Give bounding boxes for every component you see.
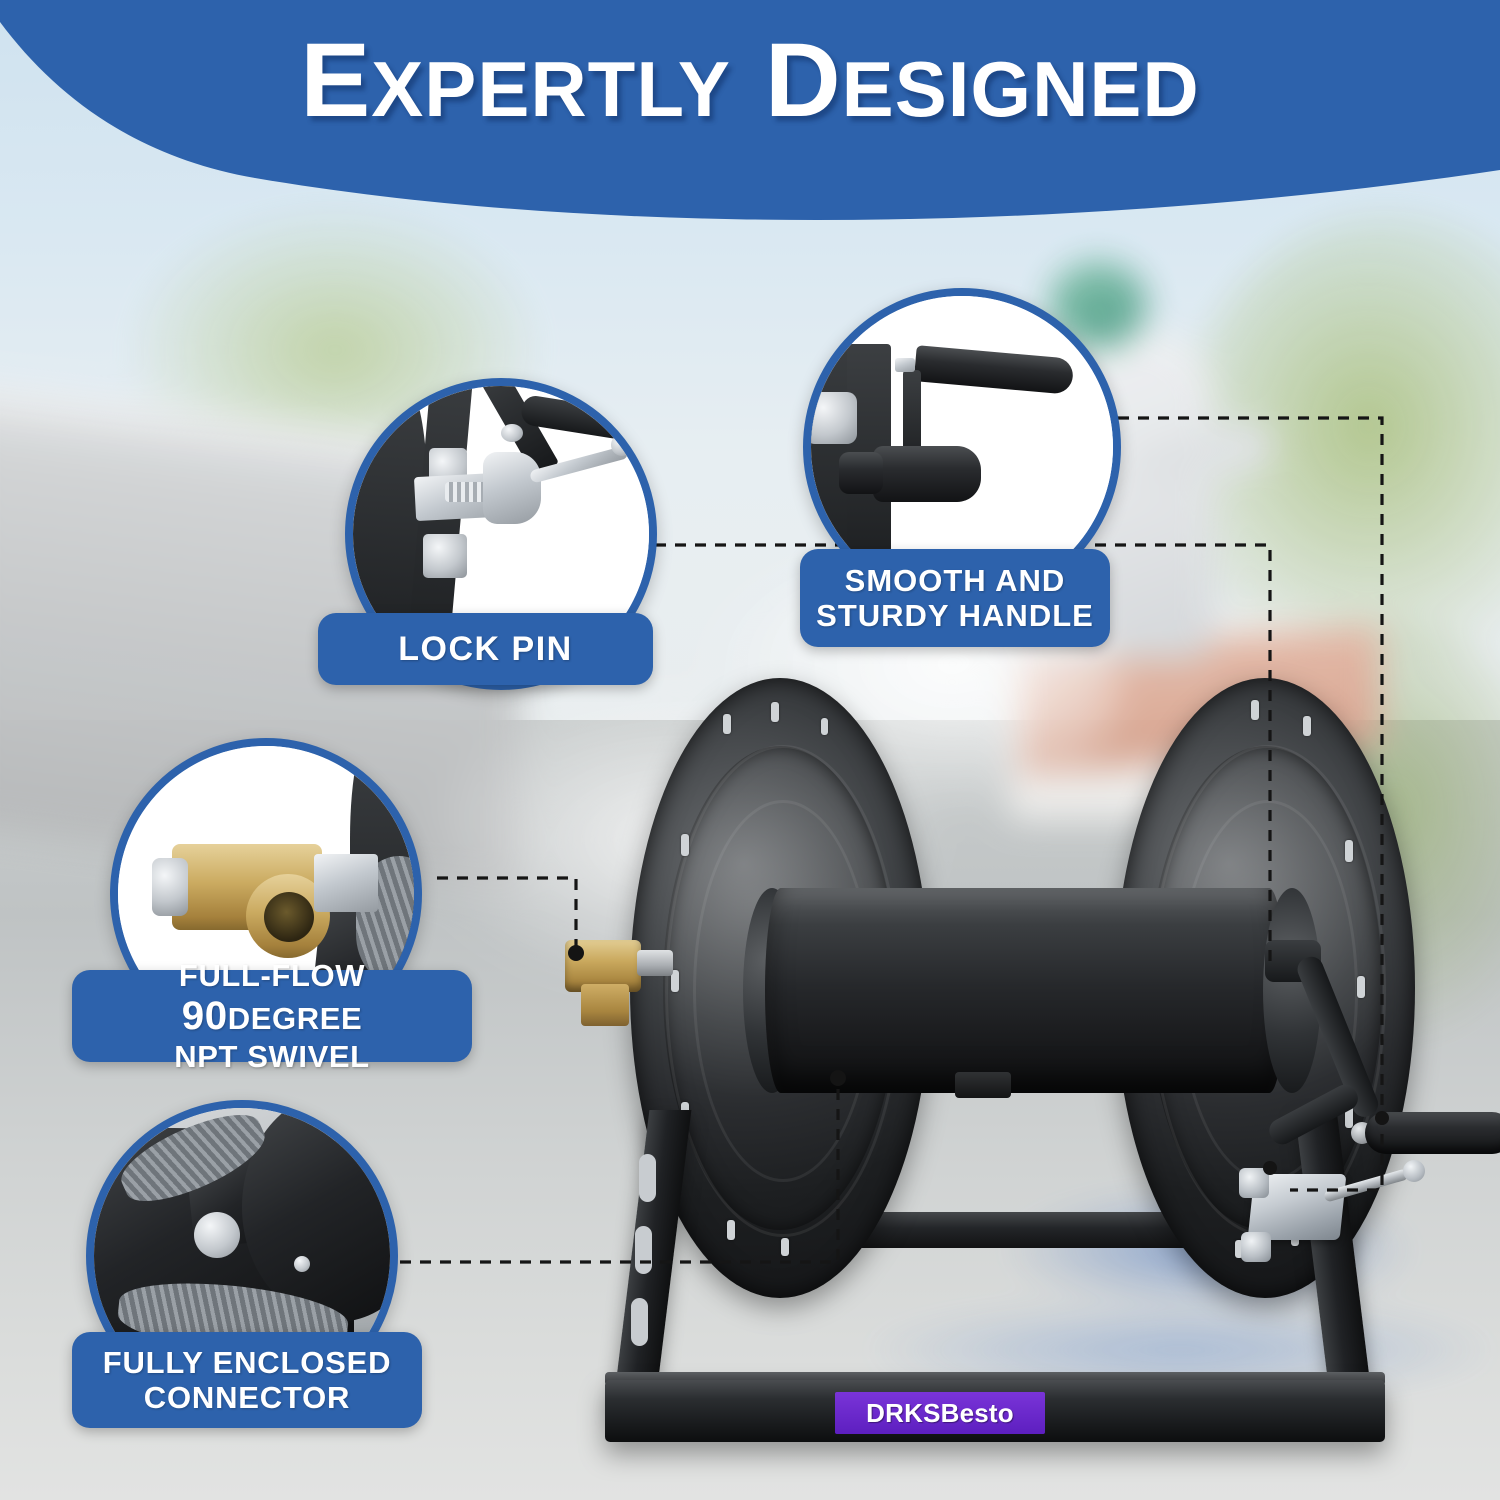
hex-bolt xyxy=(805,392,857,444)
reel-disc-slot xyxy=(723,714,731,734)
swivel-bearing-cap xyxy=(152,858,188,916)
lock-knob xyxy=(611,434,633,456)
reel-disc-slot xyxy=(821,718,828,735)
reel-disc-slot xyxy=(1345,840,1353,862)
reel-disc-slot xyxy=(1251,700,1259,720)
crank-hub-barrel xyxy=(873,446,981,502)
reel-disc-slot xyxy=(1303,716,1311,736)
reel-disc-slot xyxy=(781,1238,789,1256)
swivel-bore xyxy=(264,892,314,942)
product-hose-reel: DRKSBesto xyxy=(575,640,1445,1440)
brass-swivel-outlet xyxy=(581,984,629,1026)
callout-label-line1-post: DEGREE xyxy=(228,1001,363,1036)
frame-slot xyxy=(635,1226,652,1274)
handle-pin xyxy=(895,358,915,372)
reel-disc-slot xyxy=(727,1220,735,1240)
reel-drum xyxy=(765,888,1285,1093)
connector-threaded-port xyxy=(194,1212,240,1258)
lock-pin-bolt xyxy=(1239,1168,1269,1198)
callout-label-degrees-value: 90 xyxy=(182,993,228,1038)
callout-label-line1-pre: FULL-FLOW xyxy=(179,958,365,993)
callout-label-text: LOCK PIN xyxy=(398,630,572,669)
title-cap-2: D xyxy=(765,22,842,139)
callout-label-line1: SMOOTH AND xyxy=(845,563,1066,598)
callout-label-connector: FULLY ENCLOSED CONNECTOR xyxy=(72,1332,422,1428)
callout-label-text: SMOOTH AND STURDY HANDLE xyxy=(816,563,1094,634)
reel-disc-slot xyxy=(771,702,779,722)
page-title: EXPERTLYDESIGNED xyxy=(0,28,1500,142)
callout-label-line1: FULLY ENCLOSED xyxy=(103,1345,392,1380)
swivel-hex-nut xyxy=(314,854,378,912)
callout-label-handle: SMOOTH AND STURDY HANDLE xyxy=(800,549,1110,647)
reel-disc-slot xyxy=(1357,976,1365,998)
hex-bolt xyxy=(423,534,467,578)
lock-pin-bolt xyxy=(1241,1232,1271,1262)
connector-screw xyxy=(294,1256,310,1272)
frame-slot xyxy=(639,1154,656,1202)
callout-label-line2: NPT SWIVEL xyxy=(174,1039,369,1074)
title-rest-2: ESIGNED xyxy=(842,45,1200,133)
callout-label-text: FULLY ENCLOSED CONNECTOR xyxy=(103,1345,392,1416)
brand-label: DRKSBesto xyxy=(835,1392,1045,1434)
header-banner: EXPERTLYDESIGNED xyxy=(0,0,1500,230)
brand-label-text: DRKSBesto xyxy=(866,1398,1014,1429)
callout-label-text: FULL-FLOW 90DEGREE NPT SWIVEL xyxy=(88,958,456,1075)
brass-swivel-nut xyxy=(637,950,673,976)
crank-grip xyxy=(1365,1112,1500,1154)
callout-label-lock-pin: LOCK PIN xyxy=(318,613,653,685)
reel-drum-tab xyxy=(955,1072,1011,1098)
hex-bolt xyxy=(501,424,523,442)
crank-knob xyxy=(839,452,883,494)
callout-label-line2: STURDY HANDLE xyxy=(816,598,1094,633)
callout-label-line2: CONNECTOR xyxy=(144,1380,350,1415)
title-cap-1: E xyxy=(300,22,371,139)
title-rest-1: XPERTLY xyxy=(371,45,731,133)
infographic-canvas: DRKSBesto xyxy=(0,0,1500,1500)
lock-pin-knob xyxy=(1403,1160,1425,1182)
reel-disc-slot xyxy=(681,834,689,856)
crank-handle-grip xyxy=(914,345,1075,395)
frame-slot xyxy=(631,1298,648,1346)
lock-lever xyxy=(483,452,541,524)
callout-label-swivel: FULL-FLOW 90DEGREE NPT SWIVEL xyxy=(72,970,472,1062)
